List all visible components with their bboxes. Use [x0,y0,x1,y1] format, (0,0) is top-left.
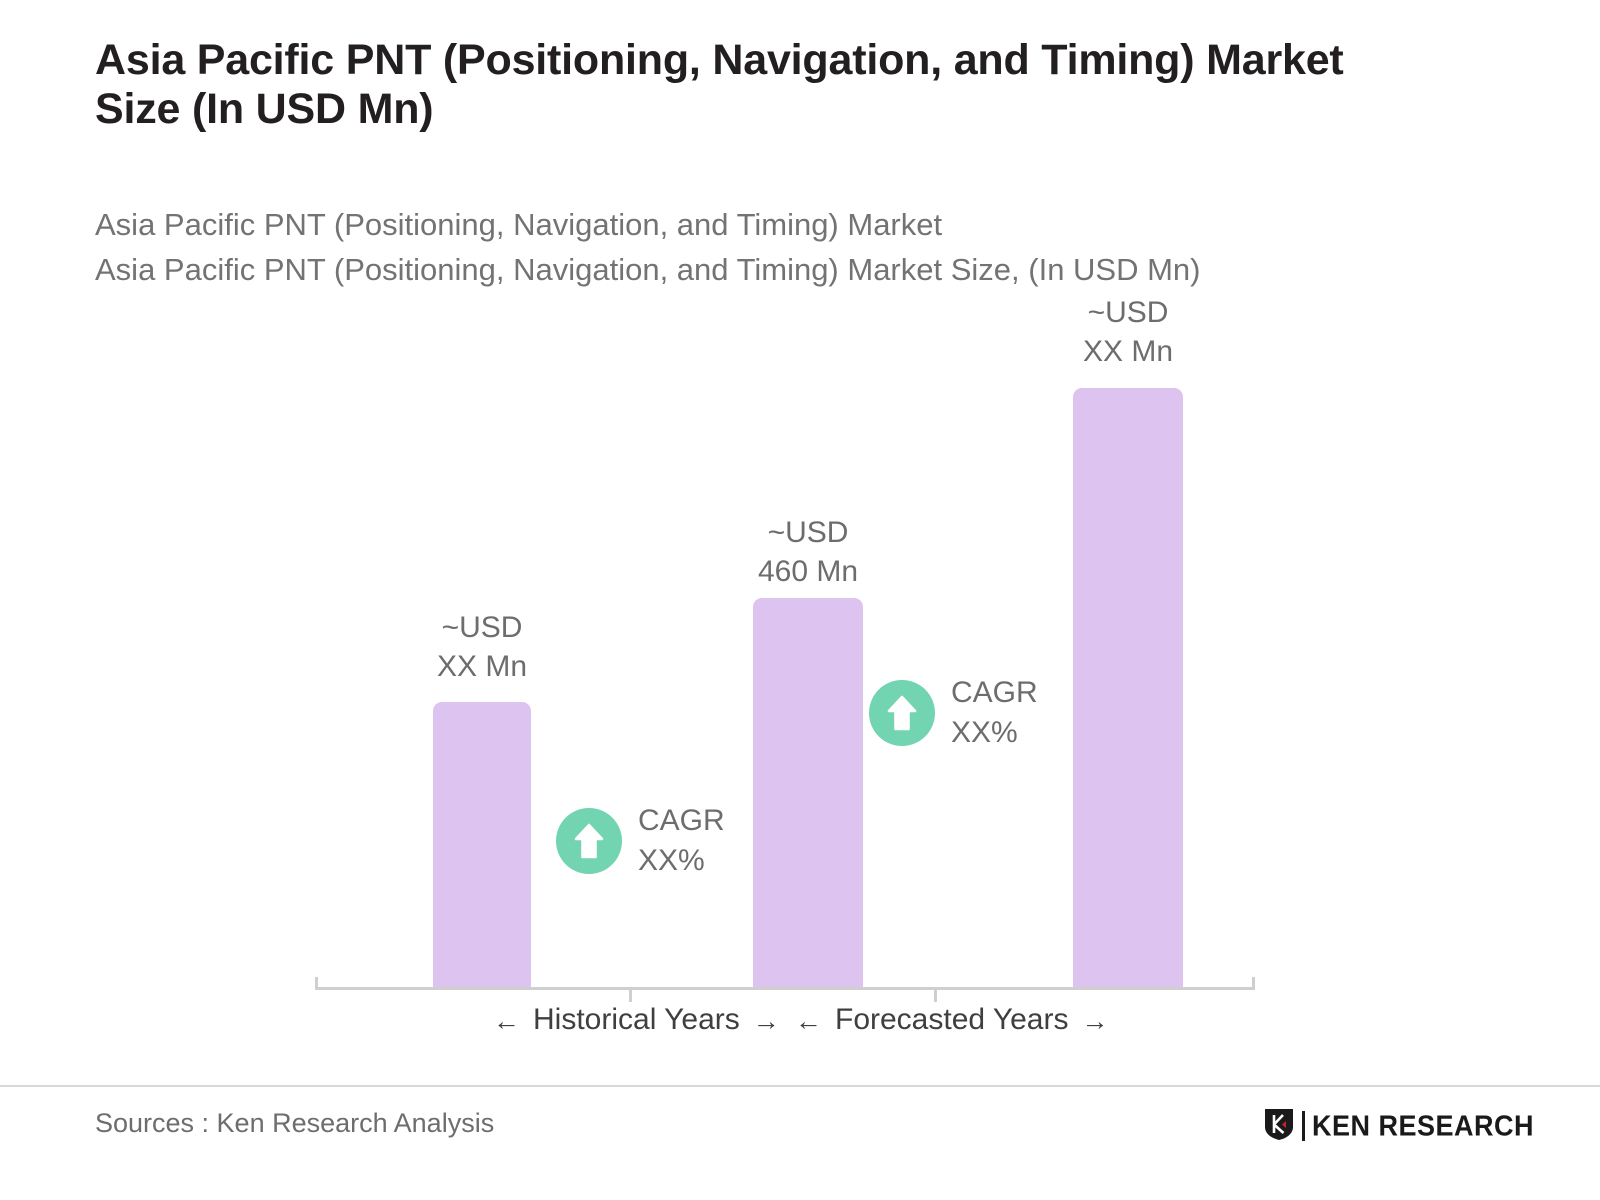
source-note: Sources : Ken Research Analysis [95,1108,494,1139]
bar-1-value-label-line-1: ~USD [382,608,582,647]
bar-2-value-label: ~USD 460 Mn [708,513,908,591]
ken-research-logo: KEN RESEARCH [1263,1108,1534,1144]
axis-range-forecasted-label: Forecasted Years [835,1003,1068,1037]
cagr-annotation-2: CAGR XX% [869,673,1038,752]
bar-chart-plot-area: ~USD XX Mn ~USD 460 Mn ~USD XX Mn CAGR X… [0,0,1600,1070]
axis-range-historical: ← Historical Years → [493,1003,780,1037]
arrow-up-icon [556,808,622,874]
cagr-annotation-2-value: XX% [951,713,1038,753]
bar-2 [753,598,863,988]
logo-divider [1302,1111,1305,1141]
axis-range-historical-label: Historical Years [533,1003,740,1037]
bar-1 [433,702,531,988]
bar-1-value-label: ~USD XX Mn [382,608,582,686]
bar-3-value-label: ~USD XX Mn [1028,293,1228,371]
bar-2-value-label-line-1: ~USD [708,513,908,552]
footer-divider [0,1085,1600,1087]
bar-2-value-label-line-2: 460 Mn [708,552,908,591]
arrow-right-icon: → [753,1008,780,1035]
axis-range-forecasted: ← Forecasted Years → [795,1003,1108,1037]
arrow-left-icon: ← [493,1008,520,1035]
x-axis-tick-1 [629,987,632,1002]
arrow-left-icon: ← [795,1008,822,1035]
x-axis-tick-start [315,977,318,990]
cagr-annotation-1-value: XX% [638,841,725,881]
bar-1-value-label-line-2: XX Mn [382,647,582,686]
cagr-annotation-2-text: CAGR XX% [951,673,1038,752]
cagr-annotation-2-label: CAGR [951,673,1038,713]
cagr-annotation-1-text: CAGR XX% [638,801,725,880]
cagr-annotation-1: CAGR XX% [556,801,725,880]
shield-k-icon [1263,1107,1295,1146]
bar-3 [1073,388,1183,988]
x-axis-line [315,987,1255,990]
arrow-up-icon [869,680,935,746]
arrow-right-icon: → [1081,1008,1108,1035]
cagr-annotation-1-label: CAGR [638,801,725,841]
x-axis-tick-2 [934,987,937,1002]
brand-wordmark: KEN RESEARCH [1312,1110,1534,1143]
bar-3-value-label-line-1: ~USD [1028,293,1228,332]
x-axis-tick-end [1252,977,1255,990]
bar-3-value-label-line-2: XX Mn [1028,332,1228,371]
